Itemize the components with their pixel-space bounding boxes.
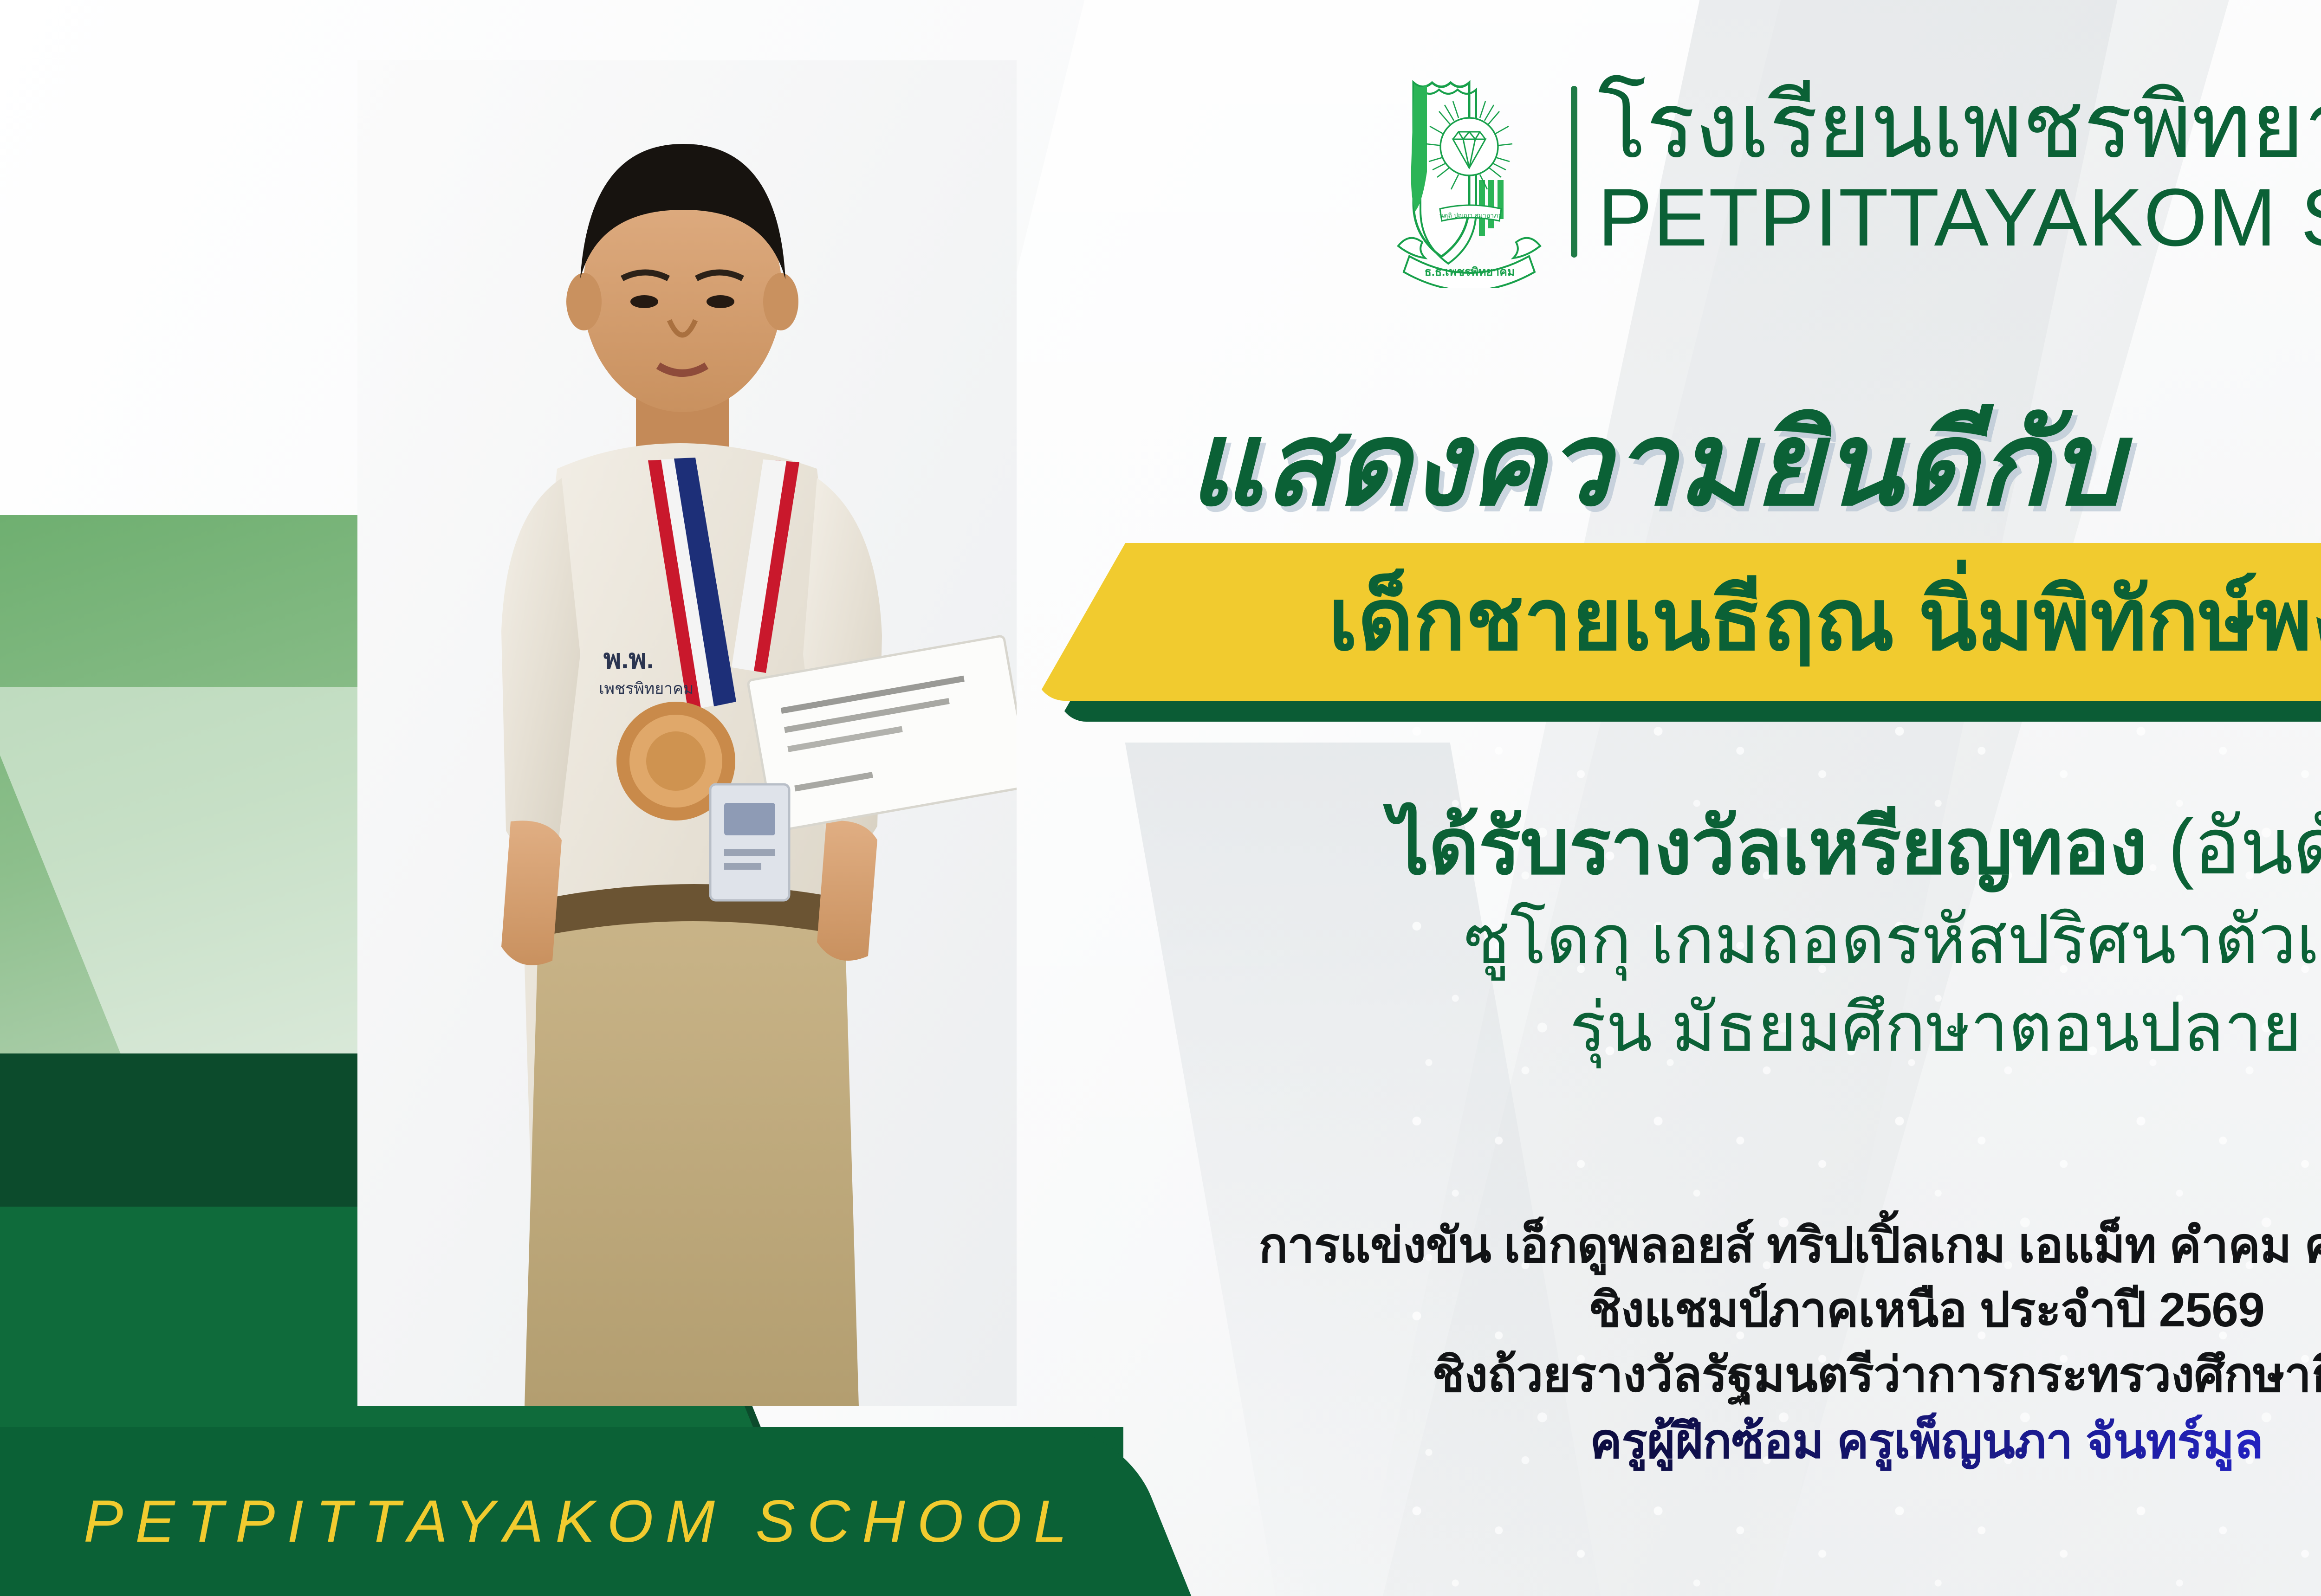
award-result: ได้รับรางวัลเหรียญทอง [1390,803,2147,890]
student-name: เด็กชายเนธีฤณ นิ่มพิทักษ์พงศ์ [1329,551,2321,687]
crest-motto: นตฺถิ ปญฺญา สมาอาภา [1439,212,1502,219]
student-photo-illustration: พ.พ. เพชรพิทยาคม [357,60,1017,1406]
school-name-english: PETPITTAYAKOM SCHOOL [1598,172,2321,264]
footer-school-name: PETPITTAYAKOM SCHOOL [84,1487,1079,1556]
competition-details: การแข่งขัน เอ็กดูพลอยส์ ทริปเปิ้ลเกม เอแ… [1068,1214,2321,1474]
student-photo: พ.พ. เพชรพิทยาคม [357,60,1017,1406]
award-event: ซูโดกุ เกมถอดรหัสปริศนาตัวเลข [1151,898,2321,982]
congratulations-headline: แสดงความยินดีกับ [1188,371,2123,556]
header-divider [1571,86,1577,258]
school-header: นตฺถิ ปญฺญา สมาอาภา ธ.ธ.เพชรพิทยาคม โรงเ… [1388,56,2321,288]
school-name-group: โรงเรียนเพชรพิทยาคม PETPITTAYAKOM SCHOOL [1598,79,2321,264]
name-banner: เด็กชายเนธีฤณ นิ่มพิทักษ์พงศ์ [1035,543,2321,701]
award-division: รุ่น มัธยมศึกษาตอนปลาย [1151,985,2321,1070]
award-result-line: ได้รับรางวัลเหรียญทอง (อันดับ 5) [1151,803,2321,890]
detail-coach: ครูผู้ฝึกซ้อม ครูเพ็ญนภา จันทร์มูล [1068,1409,2321,1474]
detail-trophy: ชิงถ้วยรางวัลรัฐมนตรีว่าการกระทรวงศึกษาธ… [1068,1343,2321,1408]
svg-text:เพชรพิทยาคม: เพชรพิทยาคม [599,680,694,698]
school-crest-shield-icon: นตฺถิ ปญฺญา สมาอาภา ธ.ธ.เพชรพิทยาคม [1388,56,1550,288]
detail-competition: การแข่งขัน เอ็กดูพลอยส์ ทริปเปิ้ลเกม เอแ… [1068,1214,2321,1278]
award-rank: (อันดับ 5) [2168,803,2321,890]
crest-ribbon-label: ธ.ธ.เพชรพิทยาคม [1425,265,1515,278]
detail-championship: ชิงแชมป์ภาคเหนือ ประจำปี 2569 [1068,1278,2321,1343]
svg-text:พ.พ.: พ.พ. [603,644,654,674]
school-name-thai: โรงเรียนเพชรพิทยาคม [1598,79,2321,172]
award-block: ได้รับรางวัลเหรียญทอง (อันดับ 5) ซูโดกุ … [1151,803,2321,1070]
